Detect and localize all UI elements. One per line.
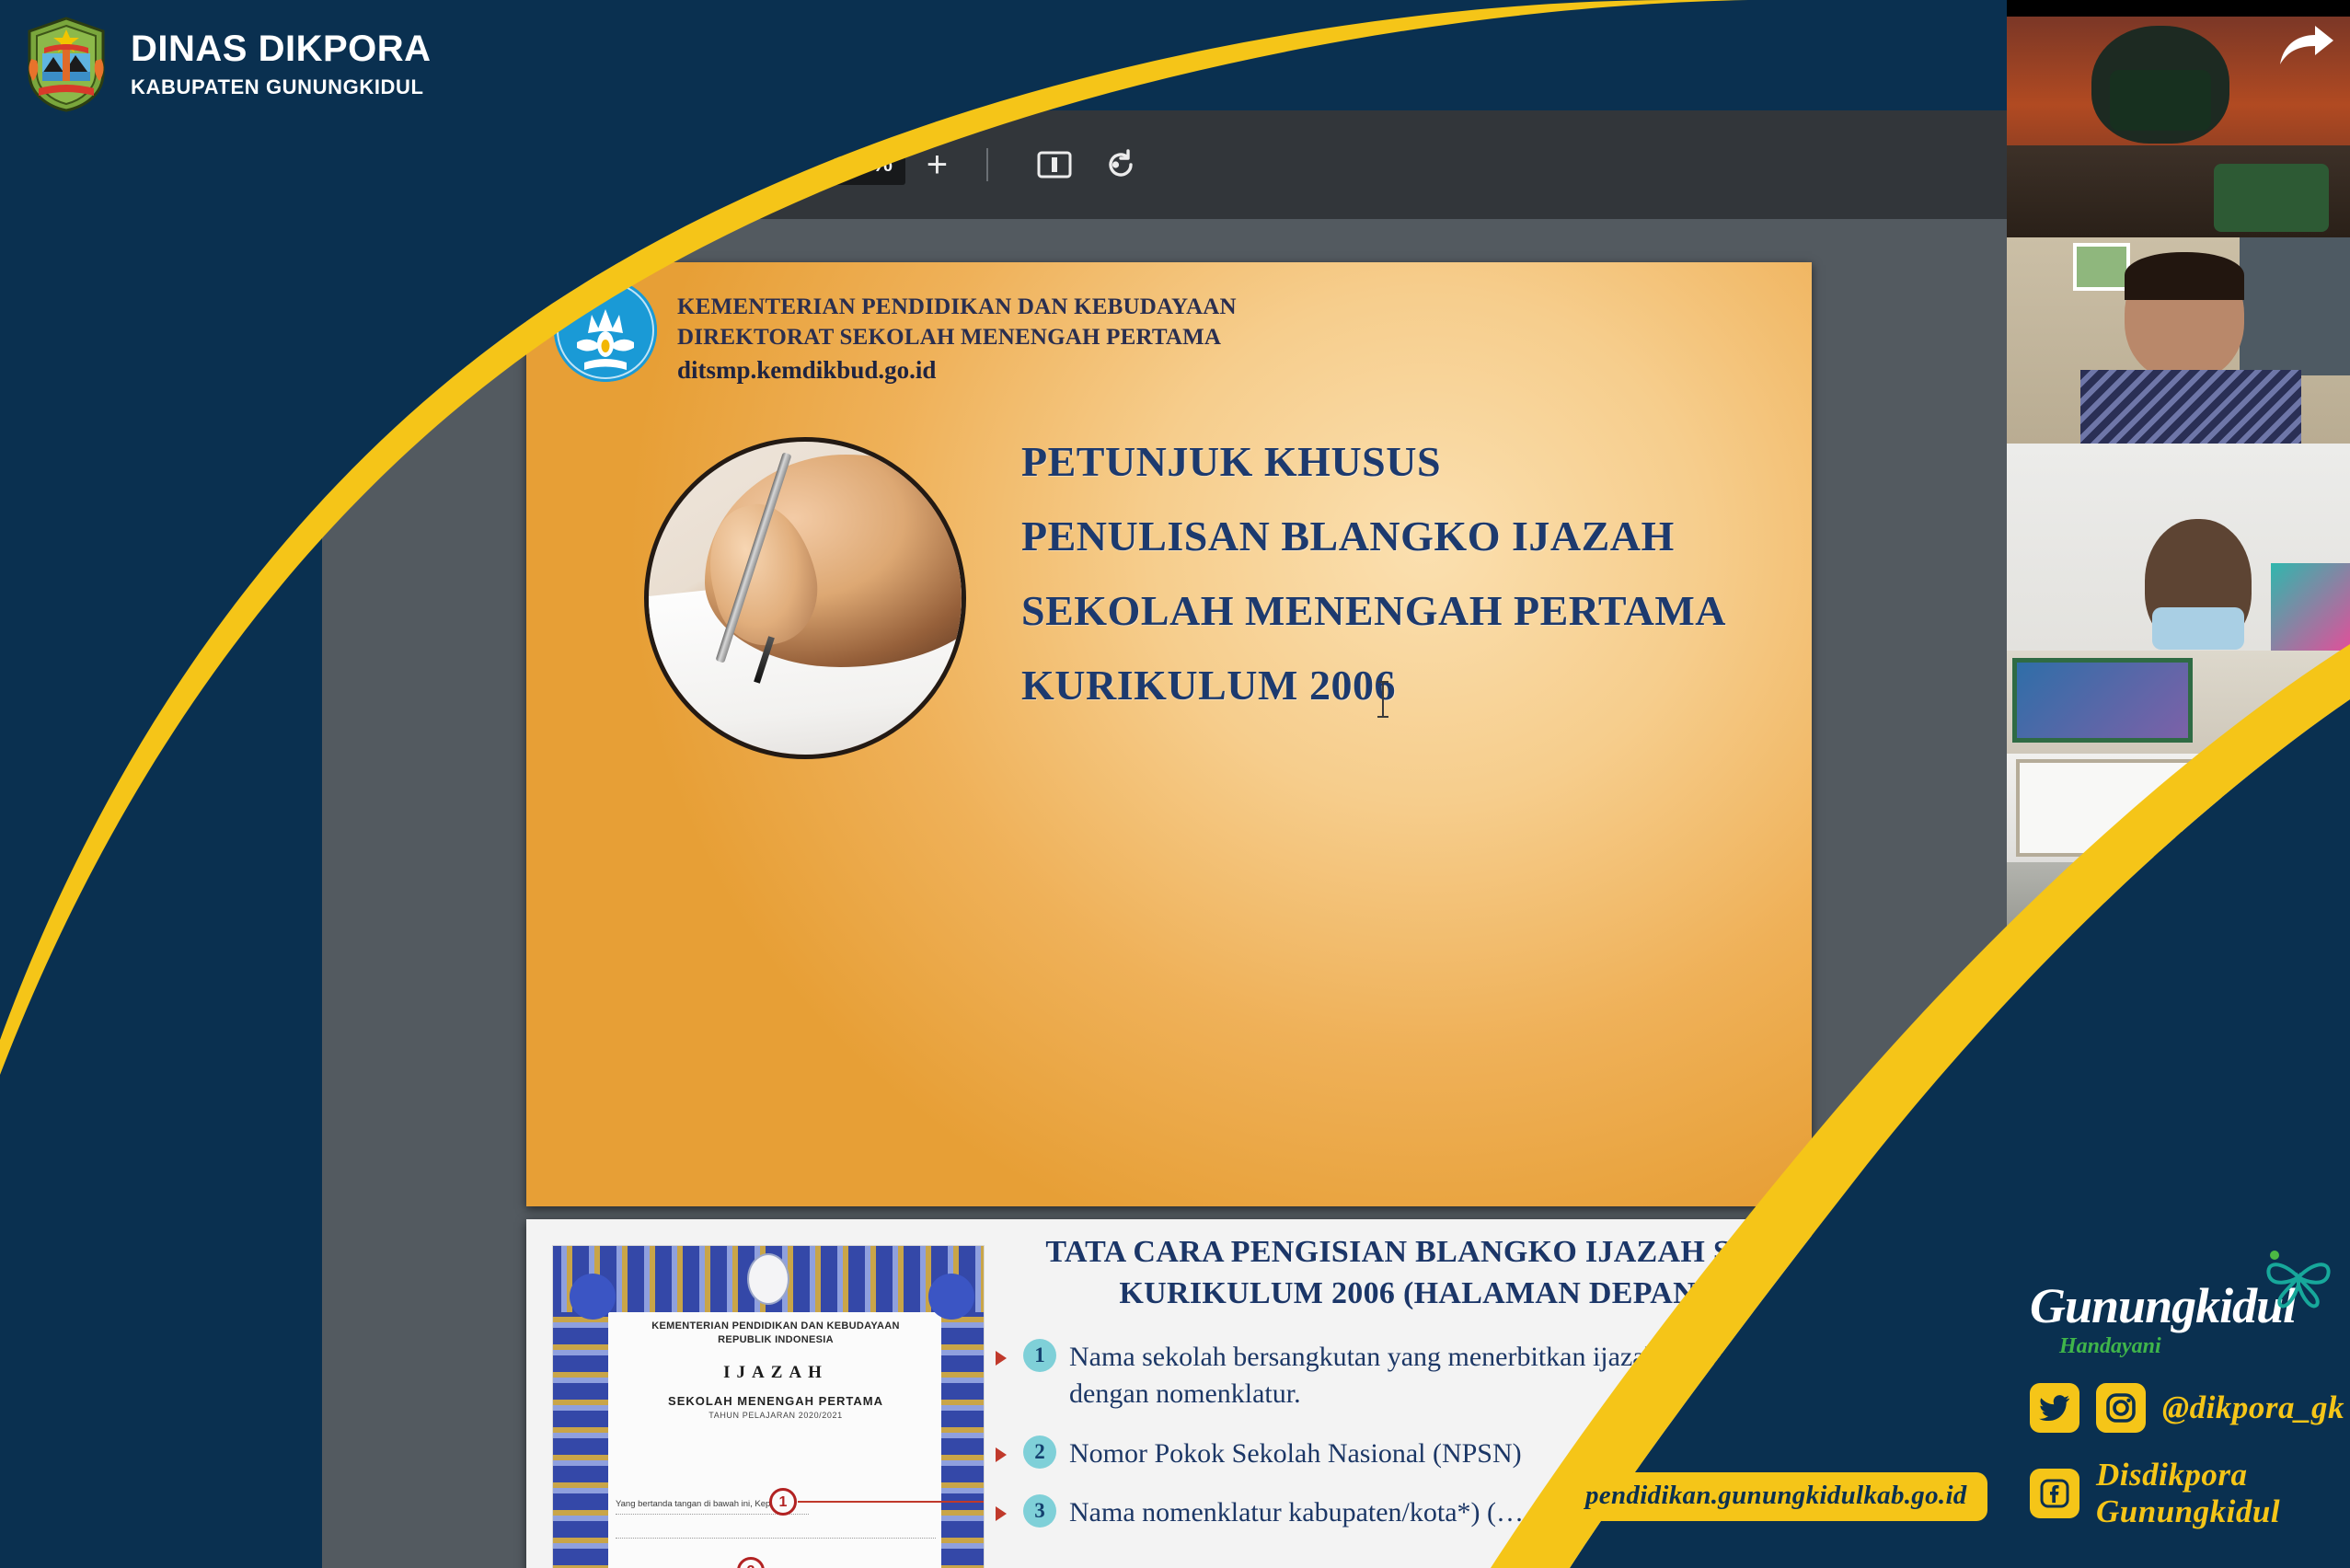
ijazah-blank-form-preview: KEMENTERIAN PENDIDIKAN DAN KEBUDAYAAN RE… bbox=[552, 1245, 985, 1568]
slide-13-title-line-1: TATA CARA PENGISIAN BLANGKO IJAZAH SMP bbox=[1023, 1232, 1803, 1274]
gunungkidul-butterfly-icon bbox=[2258, 1240, 2337, 1309]
website-url-badge[interactable]: pendidikan.gunungkidulkab.go.id bbox=[1565, 1472, 1987, 1521]
leader-arrow-icon bbox=[996, 1506, 1007, 1521]
instagram-handle: @dikpora_gk bbox=[2162, 1389, 2344, 1426]
list-item: 2 Nomor Pokok Sekolah Nasional (NPSN) bbox=[1023, 1435, 1803, 1473]
zoom-out-button[interactable]: − bbox=[765, 146, 812, 183]
rotate-counterclockwise-icon[interactable] bbox=[1095, 144, 1146, 185]
participant-tile-4[interactable] bbox=[2007, 651, 2350, 754]
pdf-toolbar: 12 / 55 − 100% + bbox=[322, 110, 2007, 219]
participant-tile-7[interactable]: H-H bbox=[2007, 1037, 2350, 1242]
tut-wuri-handayani-logo bbox=[554, 279, 657, 382]
participant-tile-2[interactable] bbox=[2007, 237, 2350, 444]
participant-tile-3[interactable] bbox=[2007, 444, 2350, 651]
cert-marker-2: 2 bbox=[737, 1557, 765, 1568]
shared-screen-region: 12 / 55 − 100% + bbox=[0, 0, 2007, 1568]
facebook-handle: Disdikpora Gunungkidul bbox=[2096, 1457, 2333, 1530]
list-item-number: 3 bbox=[1023, 1494, 1056, 1528]
page-number-input[interactable]: 12 bbox=[609, 145, 658, 184]
list-item-text: Nomor Pokok Sekolah Nasional (NPSN) bbox=[1069, 1435, 1522, 1473]
gunungkidul-tagline: Handayani bbox=[2059, 1334, 2333, 1359]
ministry-line-2: DIREKTORAT SEKOLAH MENENGAH PERTAMA bbox=[677, 322, 1237, 352]
facebook-icon[interactable] bbox=[2030, 1469, 2079, 1518]
list-item: 1 Nama sekolah bersangkutan yang menerbi… bbox=[1023, 1339, 1803, 1413]
leader-arrow-icon bbox=[996, 1351, 1007, 1366]
pdf-viewer[interactable]: 12 / 55 − 100% + bbox=[322, 110, 2007, 1568]
slide-title-line-1: PETUNJUK KHUSUS bbox=[1021, 437, 1726, 486]
website-url: pendidikan.gunungkidulkab.go.id bbox=[1585, 1481, 1967, 1510]
list-item-text: Nama sekolah bersangkutan yang menerbitk… bbox=[1069, 1339, 1803, 1413]
gunungkidul-regency-crest bbox=[22, 17, 110, 112]
gunungkidul-branding: Gunungkidul Handayani @dikpora_gk Disdik… bbox=[2030, 1281, 2333, 1530]
share-forward-arrow-icon[interactable] bbox=[2278, 24, 2335, 68]
slide-title: PETUNJUK KHUSUS PENULISAN BLANGKO IJAZAH… bbox=[1021, 437, 1726, 735]
slide-title-line-3: SEKOLAH MENENGAH PERTAMA bbox=[1021, 586, 1726, 635]
zoom-level-input[interactable]: 100% bbox=[820, 144, 906, 185]
cert-header-line-2: REPUBLIK INDONESIA bbox=[616, 1333, 936, 1347]
total-pages: 55 bbox=[684, 152, 711, 178]
leader-arrow-icon bbox=[996, 1447, 1007, 1462]
slide-title-line-2: PENULISAN BLANGKO IJAZAH bbox=[1021, 512, 1726, 560]
page-separator: / bbox=[669, 152, 676, 178]
twitter-icon[interactable] bbox=[2030, 1383, 2079, 1433]
cert-level: SEKOLAH MENENGAH PERTAMA bbox=[616, 1394, 936, 1408]
cert-year: TAHUN PELAJARAN 2020/2021 bbox=[616, 1411, 936, 1420]
social-row-top: @dikpora_gk bbox=[2030, 1383, 2333, 1433]
cert-doc-title: IJAZAH bbox=[616, 1363, 936, 1383]
social-row-bottom: Disdikpora Gunungkidul bbox=[2030, 1457, 2333, 1530]
ministry-header: KEMENTERIAN PENDIDIKAN DAN KEBUDAYAAN DI… bbox=[554, 279, 1237, 385]
zoom-in-button[interactable]: + bbox=[913, 146, 961, 183]
hand-writing-with-pen-photo bbox=[644, 437, 966, 759]
slide-13-title-line-2: KURIKULUM 2006 (HALAMAN DEPAN) bbox=[1023, 1274, 1803, 1315]
brand-header: DINAS DIKPORA KABUPATEN GUNUNGKIDUL bbox=[0, 0, 515, 129]
ministry-url: ditsmp.kemdikbud.go.id bbox=[677, 356, 1237, 385]
cert-header-line-1: KEMENTERIAN PENDIDIKAN DAN KEBUDAYAAN bbox=[616, 1320, 936, 1333]
pdf-page-12: KEMENTERIAN PENDIDIKAN DAN KEBUDAYAAN DI… bbox=[526, 262, 1812, 1206]
text-cursor bbox=[1382, 681, 1384, 718]
toolbar-divider-2 bbox=[986, 148, 988, 181]
list-item-number: 1 bbox=[1023, 1339, 1056, 1372]
participant-tile-5[interactable] bbox=[2007, 754, 2350, 862]
page-count-label: / 55 bbox=[669, 152, 711, 179]
cert-marker-1: 1 bbox=[769, 1488, 797, 1516]
instagram-icon[interactable] bbox=[2096, 1383, 2146, 1433]
toolbar-divider-1 bbox=[737, 148, 739, 181]
list-item-number: 2 bbox=[1023, 1435, 1056, 1469]
org-title: DINAS DIKPORA bbox=[131, 30, 432, 67]
org-subtitle: KABUPATEN GUNUNGKIDUL bbox=[131, 75, 432, 99]
participant-tile-6[interactable] bbox=[2007, 862, 2350, 1037]
fit-to-page-icon[interactable] bbox=[1029, 144, 1080, 185]
cert-field-1-label: Yang bertanda tangan di bawah ini, Kepal… bbox=[616, 1499, 782, 1509]
ministry-line-1: KEMENTERIAN PENDIDIKAN DAN KEBUDAYAAN bbox=[677, 292, 1237, 322]
broadcast-overlay-screen: 12 / 55 − 100% + bbox=[0, 0, 2350, 1568]
slide-title-line-4: KURIKULUM 2006 bbox=[1021, 661, 1726, 709]
